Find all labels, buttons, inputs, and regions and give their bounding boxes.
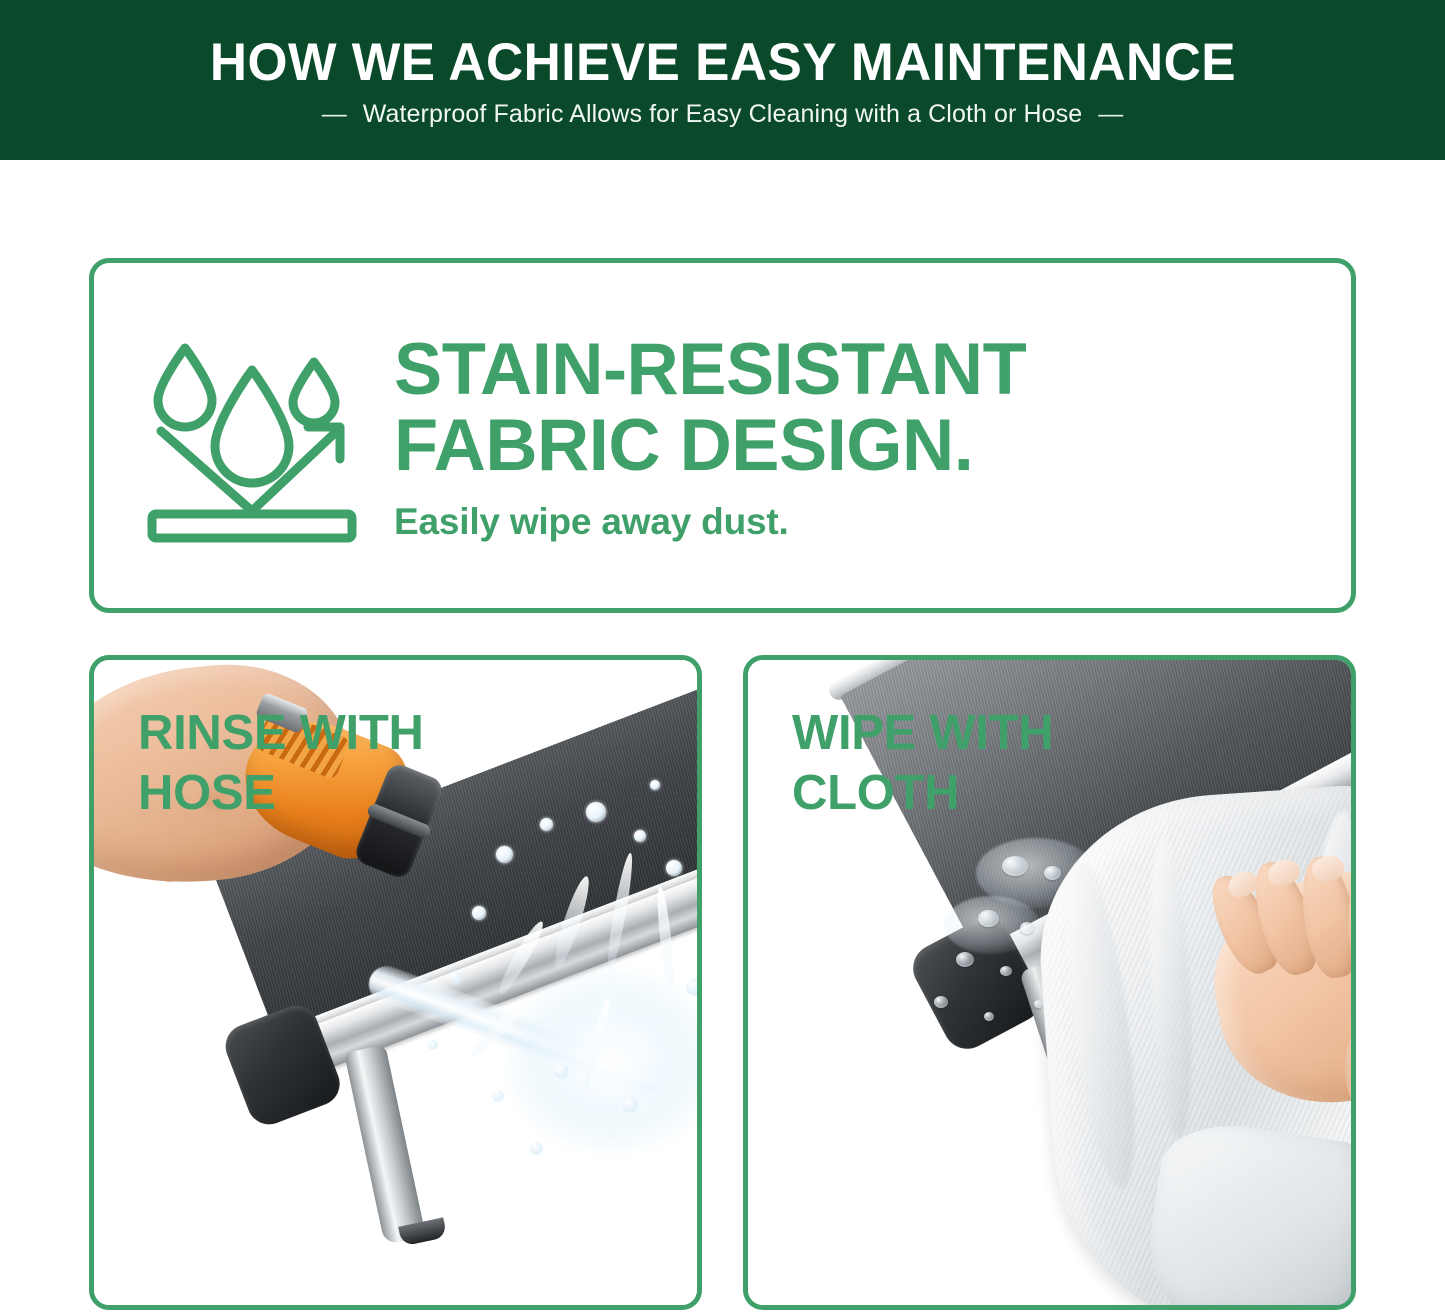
hero-subtitle: Easily wipe away dust. — [394, 501, 1033, 543]
header-banner: HOW WE ACHIEVE EASY MAINTENANCE — Waterp… — [0, 0, 1445, 160]
water-droplet — [540, 818, 553, 831]
water-bead — [1044, 866, 1061, 880]
water-bead — [1002, 856, 1028, 876]
hose-rinsing-pet-cot-photo — [94, 660, 697, 1305]
dash-left-decoration: — — [322, 102, 347, 127]
water-repellent-fabric-icon — [142, 330, 374, 548]
hero-title-line-1: STAIN-RESISTANT — [394, 332, 1026, 408]
water-droplet — [686, 978, 697, 996]
water-bead — [1020, 922, 1034, 934]
water-droplet — [428, 1040, 438, 1050]
water-droplet — [634, 830, 646, 842]
water-droplet — [622, 1096, 639, 1113]
water-droplet — [472, 906, 486, 920]
water-droplet — [586, 802, 606, 822]
water-bead — [1034, 1000, 1043, 1008]
subtitle-row: — Waterproof Fabric Allows for Easy Clea… — [322, 100, 1124, 129]
water-droplet — [530, 1142, 543, 1155]
page-title: HOW WE ACHIEVE EASY MAINTENANCE — [209, 35, 1235, 90]
water-droplet — [492, 1090, 504, 1102]
stain-resistant-feature-card: STAIN-RESISTANT FABRIC DESIGN. Easily wi… — [89, 258, 1356, 613]
hero-text-block: STAIN-RESISTANT FABRIC DESIGN. Easily wi… — [394, 332, 1033, 544]
hero-title-line-2: FABRIC DESIGN. — [394, 408, 1026, 484]
water-droplet — [554, 1064, 569, 1079]
water-bead — [934, 996, 948, 1008]
water-droplet — [450, 972, 461, 983]
cloth-wiping-pet-cot-photo — [748, 660, 1351, 1305]
page-subtitle: Waterproof Fabric Allows for Easy Cleani… — [363, 100, 1083, 129]
cot-leg-left — [344, 1044, 426, 1244]
water-droplet — [496, 846, 513, 863]
rinse-with-hose-card: RINSE WITH HOSE — [89, 655, 702, 1310]
water-bead — [1000, 966, 1012, 976]
wipe-with-cloth-card: WIPE WITH CLOTH — [743, 655, 1356, 1310]
water-bead — [956, 952, 974, 967]
water-droplet — [650, 780, 660, 790]
water-bead — [978, 910, 999, 927]
water-bead — [984, 1012, 994, 1021]
dash-right-decoration: — — [1098, 102, 1123, 127]
water-droplet — [666, 860, 682, 876]
